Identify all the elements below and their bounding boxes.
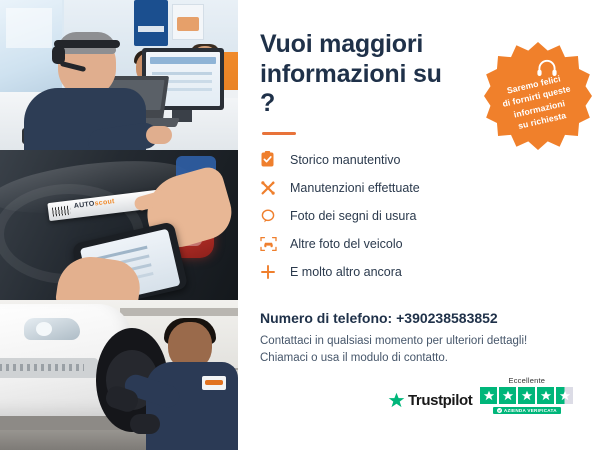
phone-number: Numero di telefono: +390238583852 xyxy=(260,310,578,326)
content-panel: Vuoi maggiori informazioni su ? Storico … xyxy=(238,0,600,450)
garage-shelf xyxy=(120,308,238,316)
car-scan-icon xyxy=(260,234,284,254)
list-item-label: Altre foto del veicolo xyxy=(290,237,403,251)
list-item-label: Storico manutentivo xyxy=(290,153,400,167)
page-title: Vuoi maggiori informazioni su ? xyxy=(260,30,460,119)
list-item: E molto altro ancora xyxy=(260,258,578,286)
star-filled xyxy=(537,387,554,404)
speech-bubble-icon xyxy=(260,206,284,226)
list-item-label: Foto dei segni di usura xyxy=(290,209,416,223)
trustpilot-logo: Trustpilot xyxy=(388,392,472,414)
tools-cross-icon xyxy=(260,178,284,198)
trustpilot-wordmark: Trustpilot xyxy=(408,392,472,409)
list-item-label: Manutenzioni effettuate xyxy=(290,181,420,195)
car-grille xyxy=(0,358,98,378)
star-filled xyxy=(499,387,516,404)
vehicle-inspection-photo: AUTOscout xyxy=(0,150,238,300)
verified-label: AZIENDA VERIFICATA xyxy=(504,408,557,413)
list-item: Manutenzioni effettuate xyxy=(260,174,578,202)
request-info-badge: Saremo felici di fornirti queste informa… xyxy=(484,42,592,150)
car-headlight xyxy=(24,318,80,340)
list-item: Altre foto del veicolo xyxy=(260,230,578,258)
contact-line-2: Chiamaci o usa il modulo di contatto. xyxy=(260,350,578,368)
star-filled xyxy=(480,387,497,404)
star-rating xyxy=(480,387,573,404)
contact-line-1: Contattaci in qualsiasi momento per ulte… xyxy=(260,333,578,351)
verified-check-icon xyxy=(497,408,502,413)
list-item-label: E molto altro ancora xyxy=(290,265,402,279)
contact-instructions: Contattaci in qualsiasi momento per ulte… xyxy=(260,333,578,369)
contact-info-banner: AUTOscout Vuoi maggiori infor xyxy=(0,0,600,450)
photo-strip: AUTOscout xyxy=(0,0,238,450)
rating-label: Eccellente xyxy=(509,376,546,385)
star-half xyxy=(556,387,573,404)
call-center-agents-photo xyxy=(0,0,238,150)
mechanic xyxy=(146,318,238,450)
trustpilot-rating[interactable]: Trustpilot Eccellente AZIENDA VERIFICATA xyxy=(388,376,573,414)
list-item: Foto dei segni di usura xyxy=(260,202,578,230)
garage-mechanic-wheel-photo xyxy=(0,300,238,450)
plus-icon xyxy=(260,262,284,282)
verified-business-badge: AZIENDA VERIFICATA xyxy=(493,407,561,414)
trustpilot-star-icon xyxy=(388,392,405,409)
trustpilot-score-block: Eccellente AZIENDA VERIFICATA xyxy=(480,376,573,414)
title-divider xyxy=(262,132,296,135)
foreground-agent-with-headset xyxy=(18,34,146,150)
feature-list: Storico manutentivo Manutenzioni effettu… xyxy=(260,146,578,286)
wall-poster xyxy=(172,4,204,40)
star-filled xyxy=(518,387,535,404)
clipboard-check-icon xyxy=(260,150,284,170)
